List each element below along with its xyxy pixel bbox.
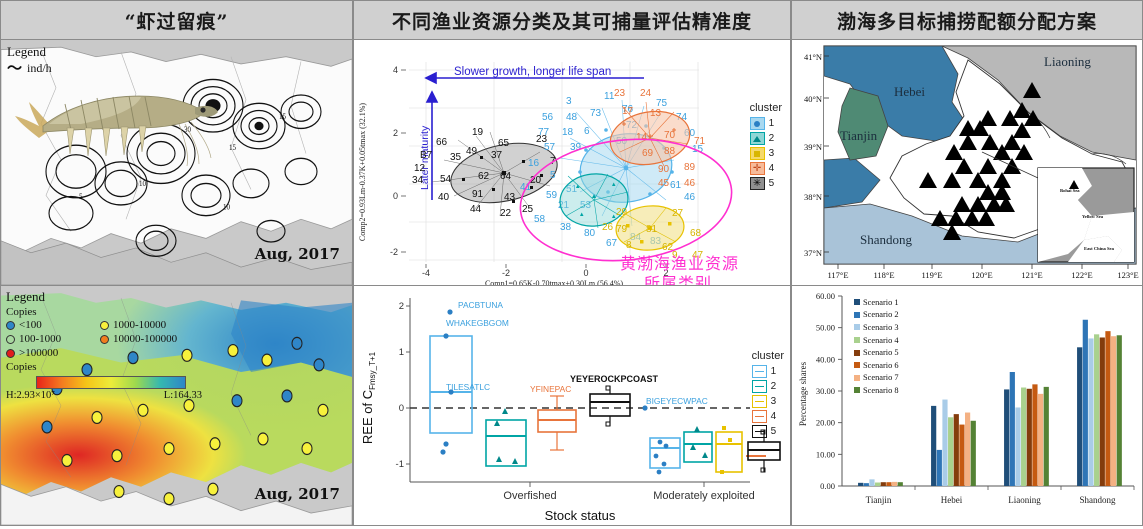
map-ytick: 39°N [804, 142, 822, 152]
bar [1100, 337, 1105, 486]
legend-entry[interactable]: Scenario 8 [854, 384, 899, 397]
bar [1083, 320, 1088, 486]
svg-text:34: 34 [412, 175, 424, 186]
svg-text:37: 37 [491, 150, 503, 161]
boxplot-svg: 2 1 0 -1 REE of CFmsy_T+1 [354, 286, 790, 525]
legend-entry[interactable]: Scenario 1 [854, 296, 899, 309]
svg-text:17: 17 [622, 106, 634, 117]
svg-text:62: 62 [478, 171, 490, 182]
shrimp-legend-title: Legend [7, 44, 52, 60]
pca-xtick: -2 [502, 268, 510, 278]
box-point-label: PACBTUNA [458, 300, 503, 310]
svg-text:69: 69 [642, 148, 654, 159]
bohai-map-svg: Liaoning Hebei Tianjin Shandong [792, 40, 1142, 285]
svg-text:22: 22 [500, 208, 512, 219]
box-legend-item[interactable]: 3 [752, 395, 784, 408]
shrimp-photo [9, 66, 219, 171]
panel-classification-column: 不同渔业资源分类及其可捕量评估精准度 [353, 0, 791, 529]
map-edna-copies: Legend Copies <100 1000-10000 100-1000 1… [0, 286, 353, 526]
pca-legend-label: 5 [769, 178, 775, 189]
cluster-5-key-icon: ✳ [750, 177, 765, 190]
legend-class-item: 10000-100000 [100, 333, 202, 345]
legend-class-item: >100000 [6, 347, 86, 359]
box-xcat: Overfished [503, 490, 556, 502]
bar [1015, 407, 1020, 486]
bar-ytick: 0.00 [820, 481, 835, 491]
pca-xtick: -4 [422, 268, 430, 278]
bar [1117, 335, 1122, 486]
legend-entry[interactable]: Scenario 2 [854, 309, 899, 322]
edna-legend: Legend Copies <100 1000-10000 100-1000 1… [6, 289, 202, 401]
box-legend-item[interactable]: 1 [752, 365, 784, 378]
bar [942, 400, 947, 486]
svg-text:66: 66 [436, 137, 448, 148]
bar [965, 413, 970, 486]
svg-text:12: 12 [414, 163, 426, 174]
svg-text:24: 24 [640, 88, 652, 99]
bar [1004, 389, 1009, 486]
bar [881, 482, 886, 486]
edna-legend-title: Legend [6, 289, 202, 305]
edna-copies2-label: Copies [6, 361, 202, 373]
svg-text:59: 59 [546, 190, 558, 201]
pca-legend-label: 4 [769, 163, 775, 174]
bar [1027, 389, 1032, 486]
svg-text:57: 57 [544, 142, 556, 153]
province-label: Hebei [894, 84, 925, 99]
province-label: Shandong [860, 232, 913, 247]
svg-text:16: 16 [528, 158, 540, 169]
bar-ytick: 40.00 [816, 354, 835, 364]
bar [1111, 336, 1116, 486]
shrimp-legend-unit: ind/h [27, 61, 52, 76]
bar [937, 450, 942, 486]
map-xtick: 122°E [1071, 270, 1092, 280]
box-legend-item[interactable]: 4 [752, 410, 784, 423]
legend-swatch-icon [854, 337, 860, 343]
svg-text:5: 5 [550, 170, 556, 181]
cluster-3-key-icon [750, 147, 765, 160]
box-cluster-5-key-icon [752, 425, 767, 438]
box-cluster-2-key-icon [752, 380, 767, 393]
panel-title-right: 渤海多目标捕捞配额分配方案 [791, 0, 1143, 40]
pca-svg: Comp2=0.93Lm-0.37K+0.05tmax (32.1%) 4 2 … [354, 40, 790, 285]
bar [948, 417, 953, 486]
svg-text:88: 88 [664, 146, 676, 157]
svg-text:27: 27 [672, 208, 684, 219]
province-label: Liaoning [1044, 54, 1091, 69]
map-ytick: 41°N [804, 52, 822, 62]
svg-text:5: 5 [79, 191, 83, 201]
pca-legend-item[interactable]: 3 [750, 147, 782, 160]
svg-text:14: 14 [636, 132, 648, 143]
panel-title-left: “虾过留痕” [0, 0, 353, 40]
legend-class-item: <100 [6, 319, 86, 331]
map-bohai-stations: Liaoning Hebei Tianjin Shandong [791, 40, 1143, 286]
svg-text:29: 29 [616, 207, 628, 218]
bar [858, 483, 863, 486]
pca-magenta-note-line2: 所属类别 [644, 270, 712, 286]
bar-xcat: Liaoning [1008, 495, 1041, 505]
box-cluster-4-key-icon [752, 410, 767, 423]
ramp-low-label: L:164.33 [164, 390, 202, 401]
legend-entry-label: Scenario 8 [863, 386, 899, 395]
pca-ytick: -2 [390, 247, 398, 257]
svg-text:15: 15 [229, 142, 236, 152]
legend-entry[interactable]: Scenario 5 [854, 346, 899, 359]
bar [1105, 331, 1110, 486]
inset-label: East China Sea [1084, 246, 1115, 251]
inset-label: Yellow Sea [1082, 214, 1104, 219]
legend-swatch-icon [854, 362, 860, 368]
ramp-high-label: H:2.93×10⁷ [6, 390, 55, 401]
bar-ytick: 60.00 [816, 291, 835, 301]
map-xtick: 121°E [1021, 270, 1042, 280]
box-legend-label: 4 [771, 411, 777, 422]
bar [1032, 384, 1037, 486]
bar [954, 414, 959, 486]
svg-text:10: 10 [223, 202, 230, 212]
svg-text:64: 64 [500, 171, 512, 182]
bar [898, 482, 903, 486]
boxplot-xlabel: Stock status [545, 508, 616, 523]
box-legend-item[interactable]: 5 [752, 425, 784, 438]
legend-dot-icon [100, 335, 109, 344]
bar [931, 406, 936, 486]
svg-text:71: 71 [694, 136, 706, 147]
cluster-2-key-icon [750, 132, 765, 145]
legend-class-item: 100-1000 [6, 333, 86, 345]
bar-ytick: 30.00 [816, 386, 835, 396]
pca-biplot: Comp2=0.93Lm-0.37K+0.05tmax (32.1%) 4 2 … [353, 40, 791, 286]
legend-entry-label: Scenario 5 [863, 348, 899, 357]
legend-dot-icon [6, 349, 15, 358]
cluster-4-key-icon: ✛ [750, 162, 765, 175]
bar [1010, 372, 1015, 486]
panel-quota-column: 渤海多目标捕捞配额分配方案 [791, 0, 1143, 529]
box-cluster-1-key-icon [752, 365, 767, 378]
shrimp-legend-row: 〜 ind/h [7, 61, 52, 76]
box-legend-label: 5 [771, 426, 777, 437]
svg-text:61: 61 [670, 180, 682, 191]
map-xtick: 120°E [971, 270, 992, 280]
bar [1038, 394, 1043, 486]
map-xtick: 118°E [873, 270, 894, 280]
bar [886, 482, 891, 486]
map-shrimp-density: 30 15 15 10 10 5 [0, 40, 353, 286]
legend-swatch-icon [854, 387, 860, 393]
svg-text:B7: B7 [420, 150, 433, 161]
svg-text:35: 35 [450, 152, 462, 163]
edna-legend-classes: <100 1000-10000 100-1000 10000-100000 >1… [6, 319, 202, 359]
map-ytick: 38°N [804, 192, 822, 202]
svg-text:3: 3 [566, 96, 572, 107]
svg-text:49: 49 [466, 146, 478, 157]
bar-chart-svg: Percentage shares 0.0010.0020.0030.0040.… [792, 286, 1142, 525]
pca-legend-item[interactable]: 2 [750, 132, 782, 145]
pca-ytick: 2 [393, 128, 398, 138]
svg-text:81: 81 [646, 224, 658, 235]
box-legend-label: 2 [771, 381, 777, 392]
svg-text:46: 46 [684, 192, 696, 203]
box-ytick: -1 [396, 459, 404, 470]
svg-text:43: 43 [504, 192, 516, 203]
box-ytick: 2 [399, 301, 404, 312]
legend-entry-label: Scenario 3 [863, 323, 899, 332]
svg-text:26: 26 [602, 222, 614, 233]
panel-title-mid: 不同渔业资源分类及其可捕量评估精准度 [353, 0, 791, 40]
box-cluster-3-key-icon [752, 395, 767, 408]
box-legend-label: 3 [771, 396, 777, 407]
legend-dot-icon [6, 335, 15, 344]
box-ytick: 1 [399, 347, 404, 358]
svg-text:67: 67 [606, 238, 618, 249]
pca-legend-label: 2 [769, 133, 775, 144]
legend-dot-icon [100, 321, 109, 330]
legend-entry[interactable]: Scenario 3 [854, 321, 899, 334]
legend-dot-icon [6, 321, 15, 330]
svg-text:15: 15 [279, 111, 286, 121]
inset-label: Bohai Sea [1060, 188, 1080, 193]
bar-ylabel: Percentage shares [798, 361, 808, 426]
ramp-labels: H:2.93×10⁷ L:164.33 [6, 390, 202, 401]
legend-entry-label: Scenario 2 [863, 310, 899, 319]
boxplot-cluster-legend: cluster 1 2 3 4 5 [752, 350, 784, 440]
legend-class-label: <100 [19, 319, 42, 331]
pca-cluster-legend: cluster 1 2 3 ✛4 ✳5 [750, 102, 782, 192]
legend-class-label: 1000-10000 [113, 319, 166, 331]
box-point-label: YEYEROCKPCOAST [570, 374, 659, 384]
legend-class-item: 1000-10000 [100, 319, 202, 331]
pca-legend-title: cluster [750, 102, 782, 114]
legend-entry-label: Scenario 1 [863, 298, 899, 307]
svg-text:73: 73 [590, 108, 602, 119]
map-xtick: 117°E [827, 270, 848, 280]
boxplot-ree: 2 1 0 -1 REE of CFmsy_T+1 [353, 286, 791, 526]
legend-entry[interactable]: Scenario 6 [854, 359, 899, 372]
pca-legend-label: 1 [769, 118, 775, 129]
pca-legend-item[interactable]: ✛4 [750, 162, 782, 175]
bar-xcat: Hebei [941, 495, 963, 505]
bar-chart-quota-shares: Percentage shares 0.0010.0020.0030.0040.… [791, 286, 1143, 526]
svg-text:48: 48 [566, 112, 578, 123]
box-point-label: WHAKEGBGOM [446, 318, 509, 328]
legend-swatch-icon [854, 324, 860, 330]
bar [875, 483, 880, 486]
cluster-1-key-icon [750, 117, 765, 130]
legend-swatch-icon [854, 350, 860, 356]
edna-copies-label: Copies [6, 306, 202, 318]
color-ramp [36, 376, 186, 389]
legend-entry[interactable]: Scenario 4 [854, 334, 899, 347]
edna-map-date: Aug, 2017 [255, 485, 340, 503]
bar-xcat: Shandong [1080, 495, 1117, 505]
pca-ytick: 0 [393, 191, 398, 201]
bar-ytick: 20.00 [816, 418, 835, 428]
pca-xtick: 0 [583, 268, 588, 278]
pca-legend-label: 3 [769, 148, 775, 159]
map-ytick: 37°N [804, 248, 822, 258]
svg-text:70: 70 [664, 130, 676, 141]
svg-text:13: 13 [650, 108, 662, 119]
legend-class-label: 10000-100000 [113, 333, 177, 345]
legend-class-label: >100000 [19, 347, 58, 359]
svg-text:23: 23 [614, 88, 626, 99]
bar [1021, 388, 1026, 486]
svg-text:10: 10 [139, 178, 146, 188]
legend-entry-label: Scenario 6 [863, 361, 899, 370]
svg-text:90: 90 [658, 164, 670, 175]
svg-text:45: 45 [658, 178, 670, 189]
pca-xlabel: Comp1=0.65K-0.70tmax+0.30Lm (56.4%) [485, 279, 623, 285]
legend-entry-label: Scenario 7 [863, 373, 899, 382]
svg-text:19: 19 [472, 127, 484, 138]
inset-map: Bohai Sea Yellow Sea East China Sea [1038, 168, 1134, 262]
map-ytick: 40°N [804, 94, 822, 104]
pca-legend-item[interactable]: ✳5 [750, 177, 782, 190]
svg-text:44: 44 [470, 204, 482, 215]
legend-entry[interactable]: Scenario 7 [854, 372, 899, 385]
legend-swatch-icon [854, 375, 860, 381]
pca-ylabel: Comp2=0.93Lm-0.37K+0.05tmax (32.1%) [358, 103, 367, 241]
bar [959, 425, 964, 486]
box-point-label: TILESATLC [446, 382, 490, 392]
svg-text:54: 54 [440, 174, 452, 185]
svg-text:80: 80 [584, 228, 596, 239]
pca-legend-item[interactable]: 1 [750, 117, 782, 130]
bar [1094, 334, 1099, 486]
bar [1088, 338, 1093, 486]
box-legend-title: cluster [752, 350, 784, 362]
svg-text:38: 38 [560, 222, 572, 233]
bar-xcat: Tianjin [866, 495, 892, 505]
box-point-label: BIGEYECWPAC [646, 396, 708, 406]
svg-text:65: 65 [498, 138, 510, 149]
province-label: Tianjin [840, 128, 878, 143]
svg-text:56: 56 [542, 112, 554, 123]
shrimp-legend: Legend 〜 ind/h [7, 44, 52, 76]
bar [892, 482, 897, 486]
legend-class-label: 100-1000 [19, 333, 61, 345]
svg-text:46: 46 [684, 178, 696, 189]
box-xcat: Moderately exploited [653, 490, 755, 502]
map-xtick: 119°E [921, 270, 942, 280]
svg-text:91: 91 [472, 189, 484, 200]
bar [864, 483, 869, 486]
svg-text:89: 89 [684, 162, 696, 173]
bar-ytick: 10.00 [816, 449, 835, 459]
bar [971, 421, 976, 486]
box-point-label: YFINEPAC [530, 384, 571, 394]
svg-text:58: 58 [534, 214, 546, 225]
pca-ytick: 4 [393, 65, 398, 75]
bar [869, 479, 874, 486]
bar [1077, 347, 1082, 486]
svg-text:40: 40 [438, 192, 450, 203]
bar-ytick: 50.00 [816, 323, 835, 333]
legend-swatch-icon [854, 312, 860, 318]
svg-text:79: 79 [616, 224, 628, 235]
pca-annotation-top: Slower growth, longer life span [454, 66, 611, 78]
svg-text:18: 18 [562, 127, 574, 138]
squiggle-icon: 〜 [7, 65, 22, 73]
box-ytick: 0 [399, 403, 404, 414]
box-legend-label: 1 [771, 366, 777, 377]
svg-text:6: 6 [584, 126, 590, 137]
legend-swatch-icon [854, 299, 860, 305]
svg-text:77: 77 [538, 127, 550, 138]
legend-entry-label: Scenario 4 [863, 336, 899, 345]
bar [1044, 387, 1049, 486]
map-xtick: 123°E [1117, 270, 1138, 280]
bar-chart-legend: Scenario 1 Scenario 2 Scenario 3 Scenari… [854, 296, 899, 397]
poster-root: “虾过留痕” [0, 0, 1143, 529]
svg-text:25: 25 [522, 204, 534, 215]
shrimp-map-date: Aug, 2017 [255, 245, 340, 263]
box-legend-item[interactable]: 2 [752, 380, 784, 393]
panel-shrimp-column: “虾过留痕” [0, 0, 353, 529]
